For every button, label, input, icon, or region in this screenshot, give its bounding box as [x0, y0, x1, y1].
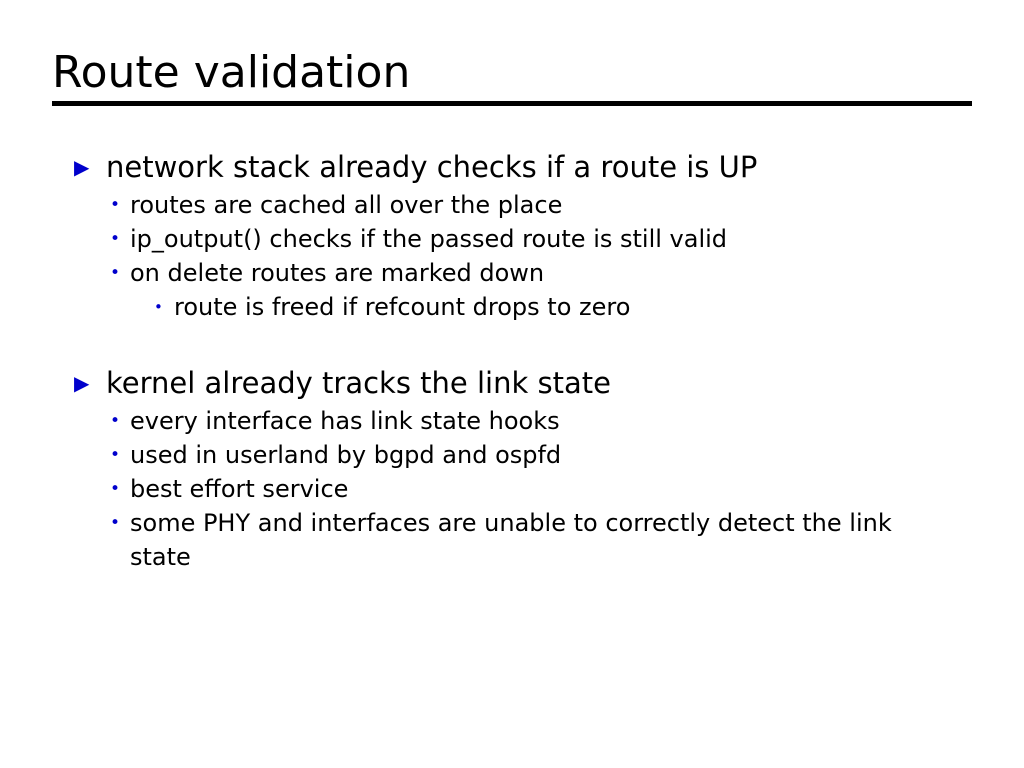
- bullet-item-level2: • every interface has link state hooks: [52, 404, 972, 438]
- bullet-text: on delete routes are marked down: [130, 256, 544, 290]
- bullet-item-level3: • route is freed if refcount drops to ze…: [52, 290, 972, 324]
- bullet-text: ip_output() checks if the passed route i…: [130, 222, 727, 256]
- dot-bullet-icon: •: [52, 472, 130, 506]
- triangle-bullet-icon: ▶: [52, 148, 106, 186]
- bullet-text: best effort service: [130, 472, 348, 506]
- bullet-item-level2: • some PHY and interfaces are unable to …: [52, 506, 972, 574]
- triangle-bullet-icon: ▶: [52, 364, 106, 402]
- dot-bullet-icon: •: [52, 290, 174, 324]
- bullet-item-level2: • best effort service: [52, 472, 972, 506]
- section-spacer: [52, 324, 972, 364]
- bullet-item-level1: ▶ network stack already checks if a rout…: [52, 148, 972, 186]
- bullet-text: route is freed if refcount drops to zero: [174, 290, 630, 324]
- bullet-item-level2: • on delete routes are marked down: [52, 256, 972, 290]
- bullet-text: network stack already checks if a route …: [106, 148, 757, 186]
- bullet-text: routes are cached all over the place: [130, 188, 562, 222]
- dot-bullet-icon: •: [52, 404, 130, 438]
- dot-bullet-icon: •: [52, 222, 130, 256]
- slide-body: ▶ network stack already checks if a rout…: [52, 148, 972, 574]
- title-divider: [52, 101, 972, 106]
- dot-bullet-icon: •: [52, 438, 130, 472]
- bullet-text: some PHY and interfaces are unable to co…: [130, 506, 920, 574]
- bullet-item-level1: ▶ kernel already tracks the link state: [52, 364, 972, 402]
- bullet-text: kernel already tracks the link state: [106, 364, 611, 402]
- slide-title-block: Route validation: [52, 47, 972, 106]
- bullet-item-level2: • ip_output() checks if the passed route…: [52, 222, 972, 256]
- bullet-item-level2: • used in userland by bgpd and ospfd: [52, 438, 972, 472]
- dot-bullet-icon: •: [52, 188, 130, 222]
- bullet-text: every interface has link state hooks: [130, 404, 560, 438]
- slide: Route validation ▶ network stack already…: [0, 0, 1024, 768]
- bullet-text: used in userland by bgpd and ospfd: [130, 438, 561, 472]
- dot-bullet-icon: •: [52, 506, 130, 540]
- dot-bullet-icon: •: [52, 256, 130, 290]
- page-title: Route validation: [52, 47, 972, 99]
- bullet-item-level2: • routes are cached all over the place: [52, 188, 972, 222]
